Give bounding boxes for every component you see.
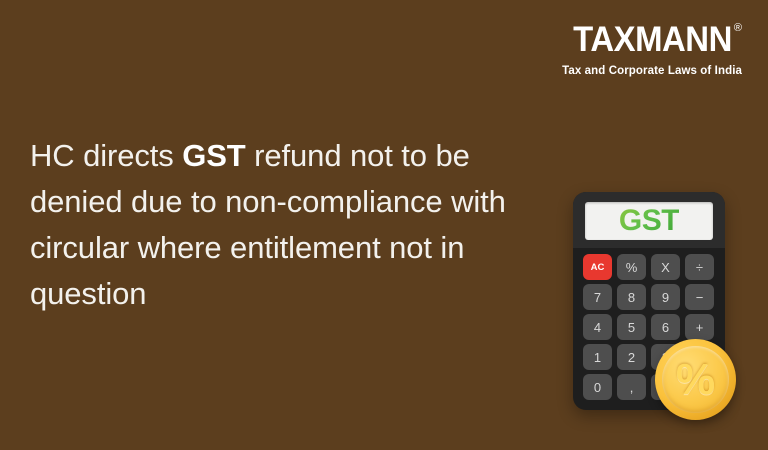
calculator-key-2[interactable]: 2 (617, 344, 646, 370)
taxmann-logo: TAXMANN ® Tax and Corporate Laws of Indi… (562, 22, 742, 78)
calculator-key-AC[interactable]: AC (583, 254, 612, 280)
calculator-key-sym[interactable]: ÷ (685, 254, 714, 280)
calculator-key-1[interactable]: 1 (583, 344, 612, 370)
registered-trademark-icon: ® (734, 23, 742, 34)
calculator-key-sym[interactable]: − (685, 284, 714, 310)
calculator-key-9[interactable]: 9 (651, 284, 680, 310)
calculator-key-6[interactable]: 6 (651, 314, 680, 340)
percent-coin-icon: % (655, 339, 736, 420)
calculator-display: GST (585, 202, 713, 240)
calculator-key-8[interactable]: 8 (617, 284, 646, 310)
headline-emphasis-gst: GST (182, 138, 245, 173)
calculator-key-sym[interactable]: , (617, 374, 646, 400)
calculator-key-5[interactable]: 5 (617, 314, 646, 340)
calculator-key-7[interactable]: 7 (583, 284, 612, 310)
coin-percent-symbol: % (676, 358, 715, 402)
calculator-display-value: GST (619, 206, 679, 236)
headline-part-before: HC directs (30, 138, 182, 173)
calculator-key-X[interactable]: X (651, 254, 680, 280)
brand-wordmark: TAXMANN (573, 22, 732, 57)
calculator-key-4[interactable]: 4 (583, 314, 612, 340)
brand-tagline: Tax and Corporate Laws of India (562, 66, 742, 78)
logo-wordmark-row: TAXMANN ® (562, 22, 742, 57)
calculator-key-sym[interactable]: + (685, 314, 714, 340)
headline-text: HC directs GST refund not to be denied d… (30, 133, 530, 317)
calculator-key-0[interactable]: 0 (583, 374, 612, 400)
promo-banner: TAXMANN ® Tax and Corporate Laws of Indi… (0, 0, 768, 450)
calculator-key-sym[interactable]: % (617, 254, 646, 280)
